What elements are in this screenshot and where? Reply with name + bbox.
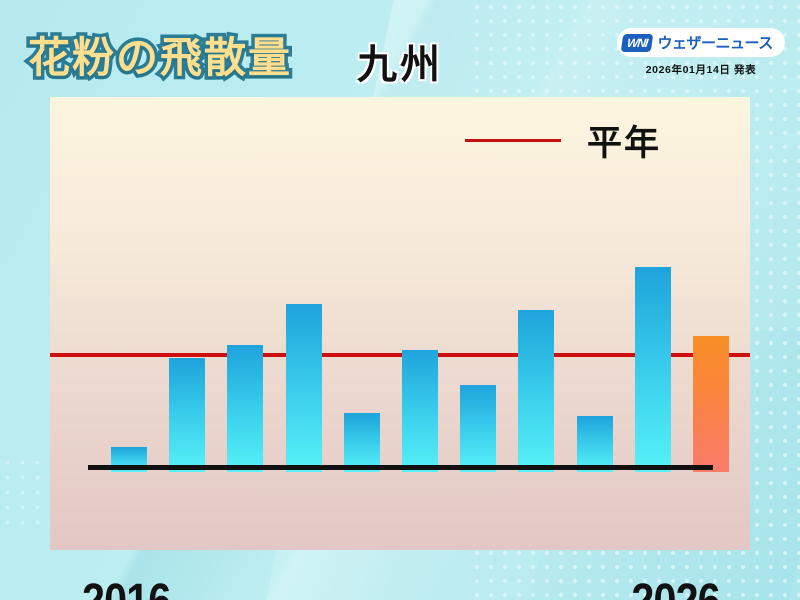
axis-label-end-year: 2026 — [632, 574, 720, 600]
bar-2017 — [169, 358, 205, 472]
weathernews-logo: WNI ウェザーニュース — [617, 28, 785, 57]
bar-2023 — [518, 310, 554, 472]
chart-panel: 平年 2016 2026 — [50, 97, 750, 550]
bar-2019 — [286, 304, 322, 472]
bar-2020 — [344, 413, 380, 472]
bar-2026 — [693, 336, 729, 472]
bar-2021 — [402, 350, 438, 472]
bar-plot — [50, 97, 750, 472]
release-date: 2026年01月14日 発表 — [616, 62, 786, 77]
bar-2025 — [635, 267, 671, 472]
bar-2022 — [460, 385, 496, 472]
bar-2018 — [227, 345, 263, 472]
bar-2024 — [577, 416, 613, 472]
brand-name: ウェザーニュース — [658, 32, 773, 53]
axis-baseline — [88, 465, 713, 470]
wni-badge-icon: WNI — [621, 34, 654, 52]
brand-block: WNI ウェザーニュース 2026年01月14日 発表 — [616, 28, 786, 77]
axis-label-start-year: 2016 — [82, 574, 170, 600]
